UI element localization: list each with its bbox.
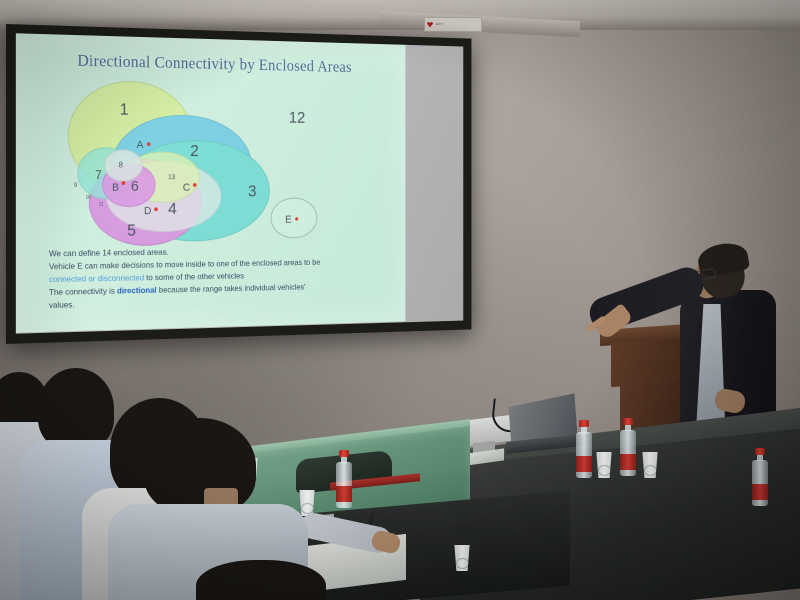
- water-bottle-center: [336, 450, 352, 508]
- emphasis-connected-disconnected: connected or disconnected: [49, 273, 144, 285]
- projected-slide: Directional Connectivity by Enclosed Are…: [16, 33, 406, 332]
- venn-label-11: 11: [99, 202, 104, 208]
- exit-sign: EXIT: [424, 17, 482, 32]
- attendee-front-bottom: [196, 560, 326, 600]
- bottle-label: [336, 486, 352, 502]
- water-bottle-far-right: [752, 448, 768, 506]
- venn-label-1: 1: [120, 100, 129, 119]
- venn-vehicle-b: B: [112, 182, 119, 194]
- venn-dot-a: [147, 142, 151, 146]
- cup-logo-icon: [644, 465, 657, 476]
- presentation-room-photo: EXIT Directional Connectivity by Enclose…: [0, 0, 800, 600]
- venn-label-9: 9: [74, 183, 78, 189]
- venn-vehicle-d: D: [144, 205, 152, 217]
- slide-body-line-4-head: The connectivity is: [49, 286, 117, 297]
- venn-label-8: 8: [119, 160, 124, 169]
- venn-vehicle-e: E: [285, 214, 291, 225]
- venn-dot-c: [193, 183, 196, 187]
- slide-body-line-4-tail: because the range takes individual vehic…: [157, 282, 306, 295]
- emphasis-directional: directional: [117, 285, 157, 296]
- cup-logo-icon: [456, 558, 469, 569]
- bottle-label: [752, 484, 768, 500]
- venn-dot-e: [295, 217, 298, 220]
- water-bottle-right-2: [620, 418, 636, 476]
- venn-label-10: 10: [85, 195, 91, 201]
- bottle-label: [576, 456, 592, 472]
- projection-screen-frame: Directional Connectivity by Enclosed Are…: [6, 24, 471, 344]
- exit-logo-icon: [427, 22, 433, 28]
- venn-label-12: 12: [289, 108, 306, 126]
- venn-circle-8: [105, 150, 143, 181]
- venn-diagram: 1 2 3 4 5 6 7 8 9 10 11 12 13: [24, 73, 404, 252]
- attendee-hair: [144, 418, 256, 514]
- venn-label-5: 5: [127, 221, 136, 240]
- venn-dot-d: [154, 207, 158, 211]
- bottle-label: [620, 454, 636, 470]
- venn-label-7: 7: [95, 167, 102, 182]
- bottle-cap: [755, 448, 765, 455]
- bottle-cap: [339, 450, 349, 457]
- venn-label-3: 3: [248, 182, 256, 200]
- venn-vehicle-c: C: [183, 182, 190, 194]
- venn-label-13: 13: [168, 174, 175, 181]
- venn-dot-b: [122, 181, 126, 185]
- attendee-hair: [196, 560, 326, 600]
- venn-label-4: 4: [168, 199, 177, 218]
- water-bottle-right-1: [576, 420, 592, 478]
- slide-body-text: We can define 14 enclosed areas. Vehicle…: [49, 243, 392, 312]
- venn-label-2: 2: [190, 141, 199, 159]
- laptop: [510, 400, 582, 452]
- cup-logo-icon: [598, 465, 611, 476]
- venn-circle-e: [271, 198, 317, 238]
- venn-vehicle-a: A: [137, 139, 145, 151]
- bottle-cap: [579, 420, 589, 427]
- exit-sign-label: EXIT: [436, 23, 443, 26]
- bottle-cap: [623, 418, 633, 425]
- projection-screen-surface: Directional Connectivity by Enclosed Are…: [16, 33, 463, 333]
- slide-body-line-3-tail: to some of the other vehicles: [144, 271, 244, 283]
- venn-label-6: 6: [131, 179, 139, 195]
